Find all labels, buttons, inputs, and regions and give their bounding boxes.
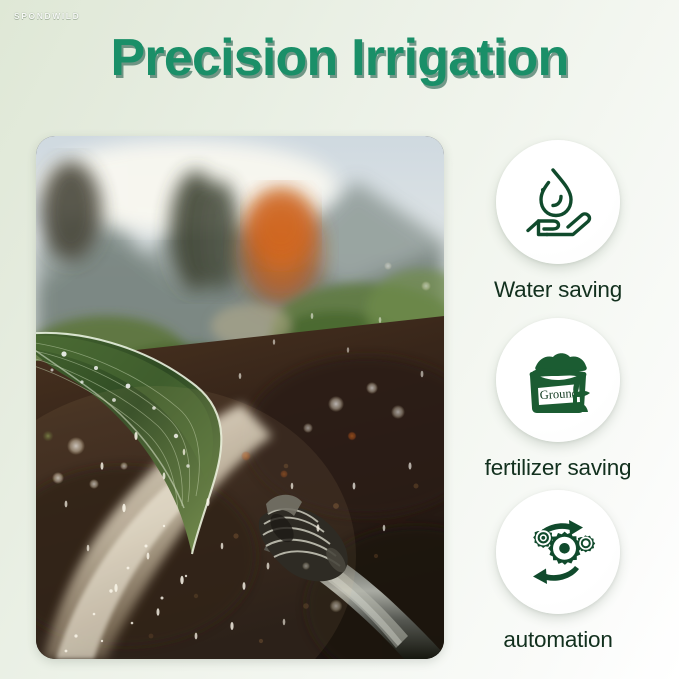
water-drop-on-hand-icon bbox=[516, 160, 600, 244]
feature-label: Water saving bbox=[452, 277, 664, 303]
gears-automation-icon bbox=[515, 509, 601, 595]
feature-icon-circle: Ground bbox=[496, 318, 620, 442]
feature-label: fertilizer saving bbox=[452, 455, 664, 481]
feature-item-fertilizer-saving[interactable]: Ground fertilizer saving bbox=[452, 318, 664, 481]
fertilizer-sack-icon: Ground bbox=[516, 338, 600, 422]
page-title: Precision Irrigation bbox=[0, 28, 679, 88]
feature-icon-circle bbox=[496, 140, 620, 264]
feature-icon-circle bbox=[496, 490, 620, 614]
watermark-text: SPONDWILD bbox=[14, 11, 80, 21]
feature-label: automation bbox=[452, 627, 664, 653]
poster-root: SPONDWILD Precision Irrigation bbox=[0, 0, 679, 679]
hero-photo bbox=[36, 136, 444, 659]
feature-item-automation[interactable]: automation bbox=[452, 490, 664, 653]
feature-item-water-saving[interactable]: Water saving bbox=[452, 140, 664, 303]
